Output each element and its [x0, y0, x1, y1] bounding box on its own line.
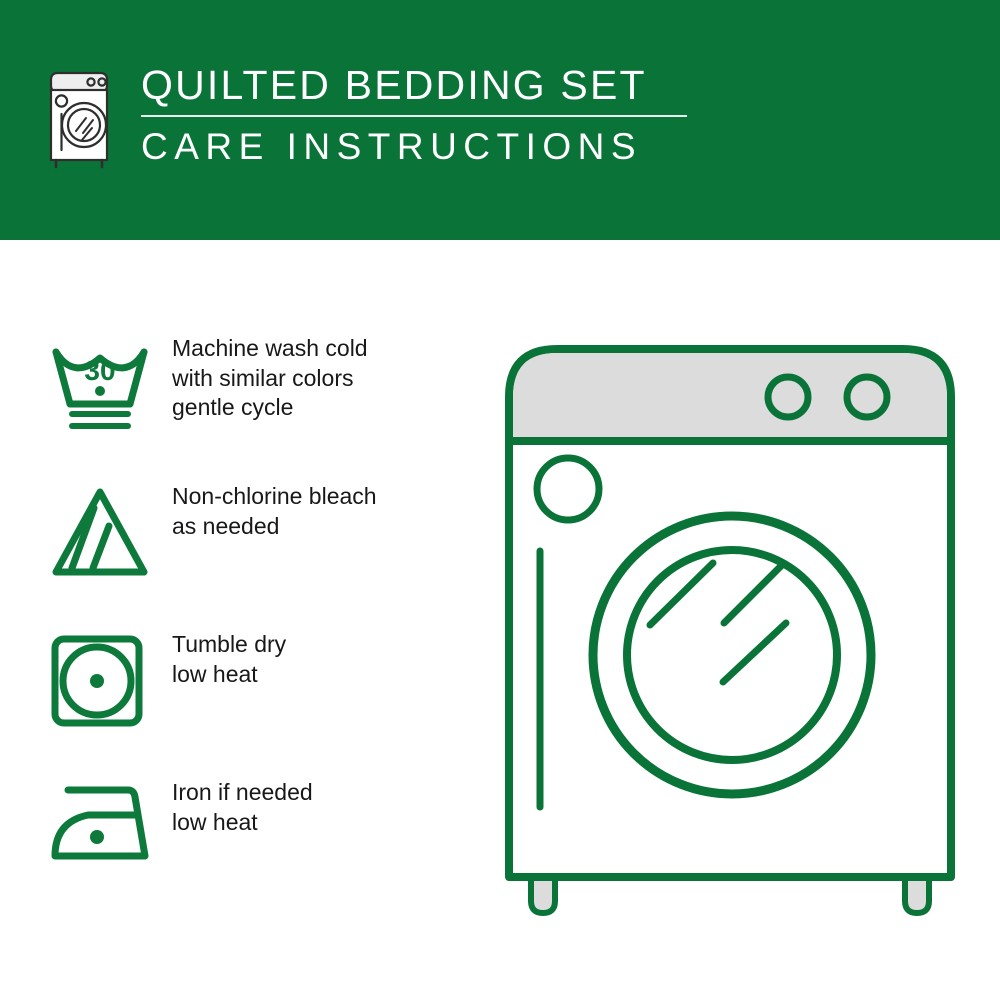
care-text-line: with similar colors [172, 364, 368, 394]
iron-symbol-wrapper [50, 774, 158, 864]
iron-icon [50, 782, 150, 864]
care-text-tumble-dry: Tumble dry low heat [172, 626, 286, 689]
header-text-block: QUILTED BEDDING SET CARE INSTRUCTIONS [141, 62, 687, 168]
care-row-bleach: Non-chlorine bleach as needed [50, 478, 470, 626]
tumble-dry-symbol-wrapper [50, 626, 158, 728]
title-divider [141, 115, 687, 117]
care-text-line: Iron if needed [172, 778, 313, 808]
care-text-line: low heat [172, 808, 313, 838]
wash-temperature-label: 30 [84, 355, 115, 386]
page-subtitle: CARE INSTRUCTIONS [141, 126, 687, 168]
care-text-line: Tumble dry [172, 630, 286, 660]
care-text-iron: Iron if needed low heat [172, 774, 313, 837]
header-banner: QUILTED BEDDING SET CARE INSTRUCTIONS [0, 0, 1000, 240]
bleach-symbol-wrapper [50, 478, 158, 582]
washing-machine-logo-icon [45, 70, 113, 170]
front-load-washing-machine-illustration [495, 335, 965, 925]
care-text-line: as needed [172, 512, 377, 542]
control-panel [513, 353, 947, 441]
care-text-line: Non-chlorine bleach [172, 482, 377, 512]
care-instructions-page: QUILTED BEDDING SET CARE INSTRUCTIONS 30 [0, 0, 1000, 1000]
care-row-iron: Iron if needed low heat [50, 774, 470, 922]
care-text-line: Machine wash cold [172, 334, 368, 364]
care-row-wash: 30 Machine wash cold with similar colors… [50, 330, 470, 478]
bleach-triangle-icon [50, 486, 150, 582]
tumble-dry-icon [50, 634, 144, 728]
care-text-line: low heat [172, 660, 286, 690]
care-text-wash: Machine wash cold with similar colors ge… [172, 330, 368, 423]
wash-tub-icon: 30 [50, 338, 150, 438]
wash-symbol-wrapper: 30 [50, 330, 158, 438]
care-text-line: gentle cycle [172, 393, 368, 423]
care-text-bleach: Non-chlorine bleach as needed [172, 478, 377, 541]
header-content: QUILTED BEDDING SET CARE INSTRUCTIONS [45, 62, 687, 170]
care-row-tumble-dry: Tumble dry low heat [50, 626, 470, 774]
care-instruction-list: 30 Machine wash cold with similar colors… [50, 330, 470, 922]
page-title: QUILTED BEDDING SET [141, 62, 687, 108]
